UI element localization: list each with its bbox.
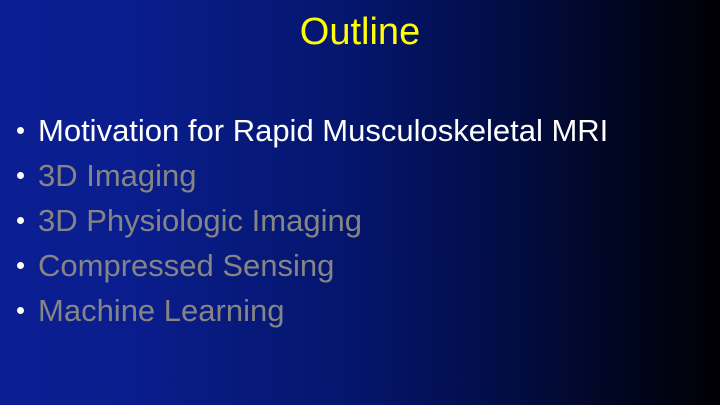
- outline-item-machine-learning[interactable]: Machine Learning: [14, 288, 714, 333]
- outline-item-label: 3D Physiologic Imaging: [38, 198, 362, 243]
- bullet-dot-icon: [17, 127, 24, 134]
- outline-item-motivation[interactable]: Motivation for Rapid Musculoskeletal MRI: [14, 108, 714, 153]
- outline-item-label: Motivation for Rapid Musculoskeletal MRI: [38, 108, 608, 153]
- outline-item-3d-imaging[interactable]: 3D Imaging: [14, 153, 714, 198]
- bullet-dot-icon: [17, 262, 24, 269]
- presentation-slide: Outline Motivation for Rapid Musculoskel…: [0, 0, 720, 405]
- outline-item-compressed-sensing[interactable]: Compressed Sensing: [14, 243, 714, 288]
- bullet-dot-icon: [17, 217, 24, 224]
- bullet-dot-icon: [17, 307, 24, 314]
- outline-item-label: 3D Imaging: [38, 153, 197, 198]
- outline-bullet-list: Motivation for Rapid Musculoskeletal MRI…: [14, 108, 714, 333]
- outline-item-label: Compressed Sensing: [38, 243, 334, 288]
- outline-item-label: Machine Learning: [38, 288, 284, 333]
- bullet-dot-icon: [17, 172, 24, 179]
- slide-title: Outline: [0, 10, 720, 54]
- outline-item-3d-physiologic-imaging[interactable]: 3D Physiologic Imaging: [14, 198, 714, 243]
